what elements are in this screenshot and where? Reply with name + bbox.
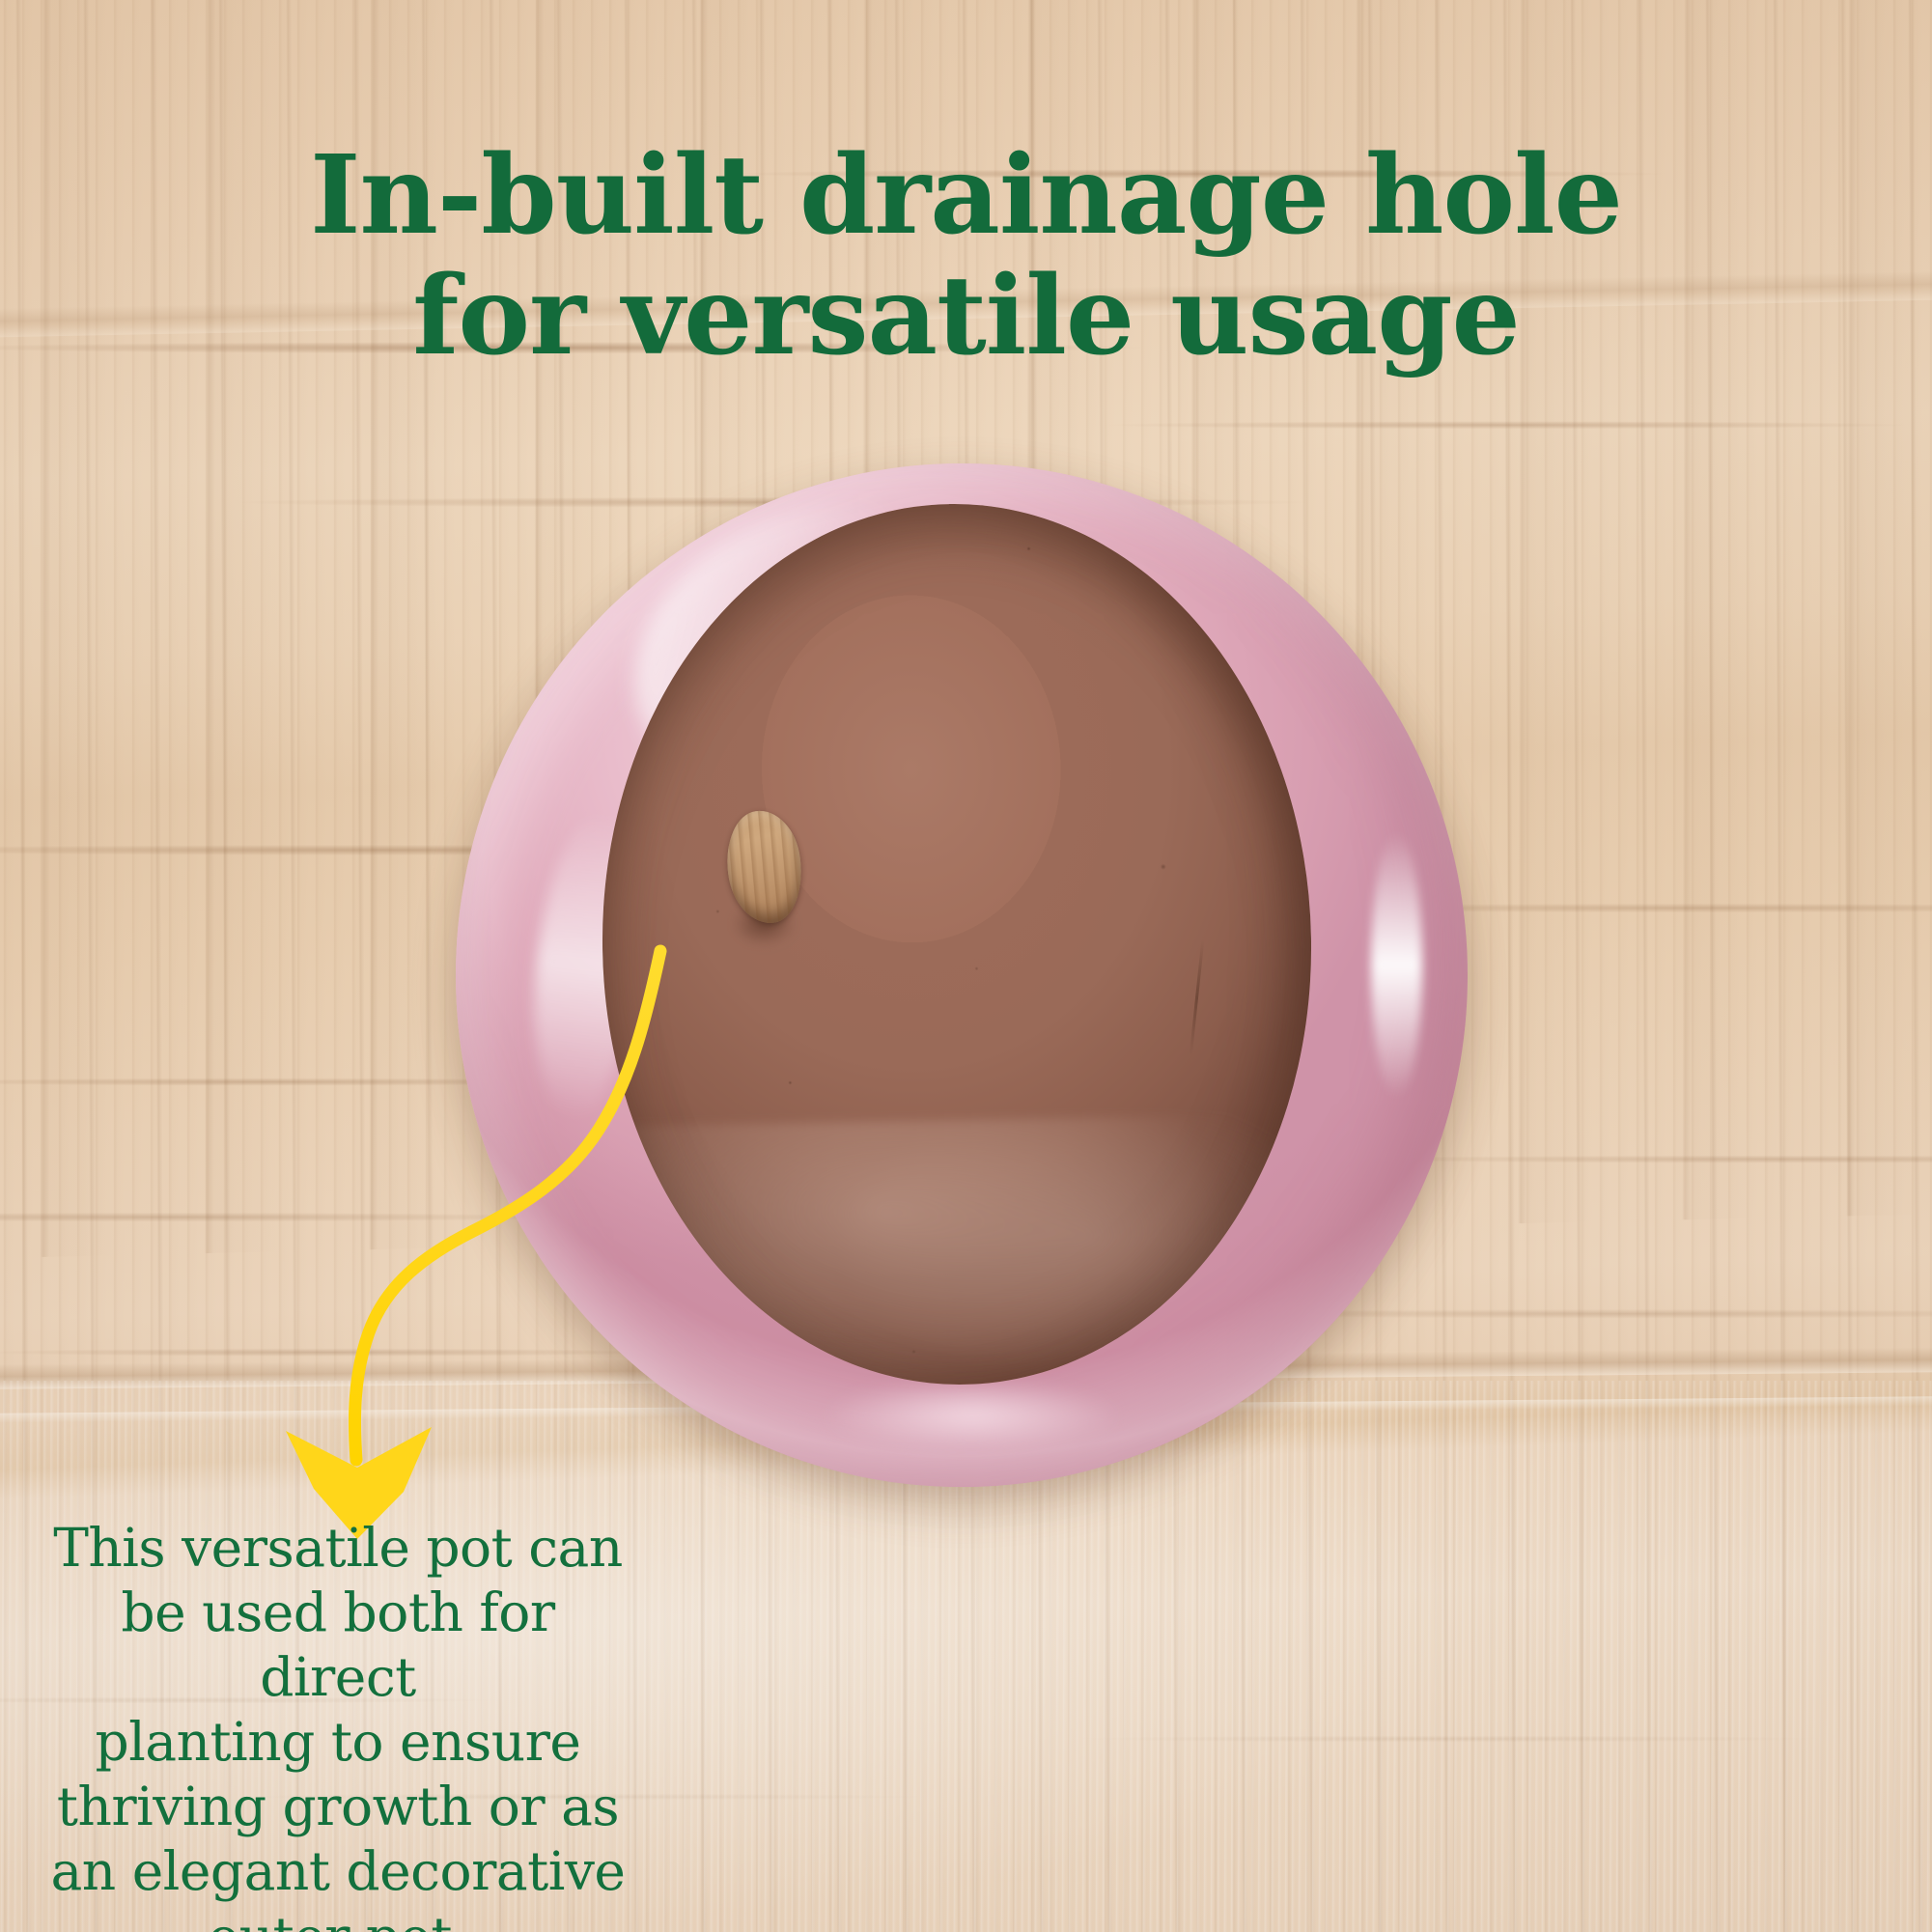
promo-image-canvas: In-built drainage hole for versatile usa… [0, 0, 1932, 1932]
caption-line-5: an elegant decorative [39, 1839, 637, 1904]
caption-line-4: thriving growth or as [39, 1775, 637, 1839]
feature-caption: This versatile pot can be used both for … [39, 1516, 637, 1932]
drainage-hole [720, 807, 807, 928]
pot-highlight-right [1371, 832, 1421, 1099]
caption-line-2: be used both for direct [39, 1581, 637, 1710]
pot-interior-terracotta [595, 498, 1318, 1390]
caption-line-6: outer pot. [39, 1905, 637, 1932]
headline-line-1: In-built drainage hole [310, 132, 1622, 259]
page-title: In-built drainage hole for versatile usa… [0, 135, 1932, 378]
headline-line-2: for versatile usage [135, 256, 1797, 377]
caption-line-3: planting to ensure [39, 1710, 637, 1775]
caption-line-1: This versatile pot can [39, 1516, 637, 1581]
clay-bottom-sheen [595, 1113, 1318, 1390]
plant-pot [456, 463, 1468, 1487]
pot-outer-glaze [456, 463, 1468, 1487]
